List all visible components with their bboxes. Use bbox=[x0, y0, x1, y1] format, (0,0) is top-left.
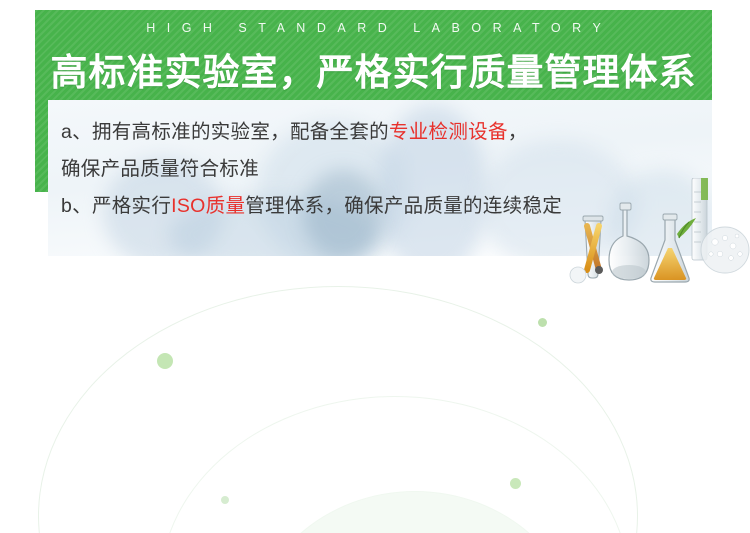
decor-dot-small-upper-right bbox=[538, 318, 547, 327]
bullet-a-highlight: 专业检测设备 bbox=[389, 121, 508, 143]
decor-dot-small-center-right bbox=[510, 478, 521, 489]
page-title: 高标准实验室，严格实行质量管理体系 bbox=[35, 42, 712, 96]
bullet-b-text1: b、严格实行 bbox=[61, 195, 171, 217]
banner-eyebrow-text: HIGH STANDARD LABORATORY bbox=[35, 21, 712, 35]
decor-dot-small-left bbox=[221, 496, 229, 504]
bullet-b-highlight: ISO质量 bbox=[171, 195, 245, 217]
laboratory-promo-page: HIGH STANDARD LABORATORY 高标准实验室，严格实行质量管理… bbox=[0, 0, 750, 533]
bullet-a-comma: ， bbox=[508, 121, 528, 143]
bullet-a-line1: a、拥有高标准的实验室，配备全套的专业检测设备， bbox=[61, 114, 701, 151]
laboratory-glassware-cluster bbox=[565, 178, 750, 288]
bullet-a-text1: a、拥有高标准的实验室，配备全套的 bbox=[61, 121, 389, 143]
photo-gallery-section bbox=[0, 256, 750, 533]
decor-dot-large-left bbox=[157, 353, 173, 369]
bullet-b-text2: 管理体系，确保产品质量的连续稳定 bbox=[245, 195, 562, 217]
